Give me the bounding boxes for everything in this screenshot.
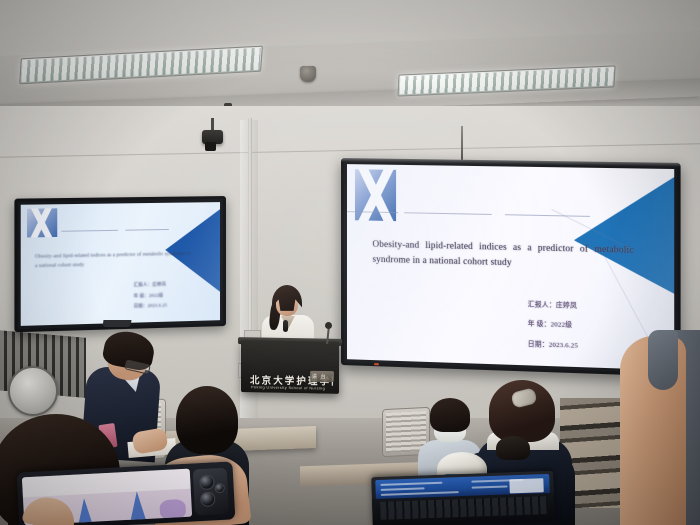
power-led-icon: [374, 363, 379, 365]
laptop-text-line: [381, 491, 459, 496]
handheld-microphone-icon: [283, 320, 288, 332]
audience-seated-head: [176, 386, 238, 454]
phone-screen-blue-shape: [77, 498, 92, 525]
secondary-slide-grade: 年 级：2022级: [134, 292, 164, 299]
podium-microphone-icon: [325, 322, 332, 329]
laptop-keyboard-base[interactable]: [372, 493, 555, 525]
laptop-text-line: [381, 487, 425, 491]
phone-screen-slide-top: [22, 469, 191, 498]
secondary-slide-date: 日期：2023.6.25: [134, 303, 168, 310]
lecture-hall-photo: Obesity-and lipid-related indices as a p…: [0, 0, 700, 525]
laptop-text-line: [380, 482, 442, 486]
audience-darksuit-head: [496, 436, 530, 460]
ceiling-speaker-icon: [300, 66, 316, 82]
slide-date-line: 日期：2023.6.25: [528, 338, 578, 350]
laptop-text-line: [472, 485, 508, 488]
secondary-slide-title: Obesity-and lipid-related indices as a p…: [35, 250, 191, 270]
presentation-slide: Obesity-and lipid-related indices as a p…: [347, 164, 674, 370]
podium-nameplate-english: Peking University School of Nursing: [251, 384, 333, 391]
podium-side-badge-text: 讲 台: [312, 373, 327, 380]
university-logo-icon: [27, 208, 58, 237]
camera-lens-icon: [199, 474, 215, 490]
university-logo-icon: [355, 169, 396, 221]
camera-flash-icon: [214, 483, 225, 494]
camera-lens-icon: [200, 491, 216, 507]
laptop-panel-block: [509, 478, 543, 493]
open-laptop[interactable]: [371, 471, 555, 525]
right-person-sleeve: [648, 330, 678, 390]
main-presentation-display[interactable]: Obesity-and lipid-related indices as a p…: [341, 158, 681, 377]
audience-masked-hair: [430, 398, 470, 432]
laptop-keys[interactable]: [380, 496, 547, 520]
phone-screen-blue-shape: [129, 491, 147, 522]
secondary-display-mount: [103, 320, 132, 327]
secondary-display-slide: Obesity-and lipid-related indices as a p…: [21, 202, 220, 326]
microphone-cable: [461, 126, 463, 164]
slide-presenter-line: 汇报人：庄婷凤: [528, 298, 577, 310]
wall-clock: [8, 366, 58, 416]
secondary-slide-presenter: 汇报人：庄婷凤: [134, 281, 167, 288]
secondary-display[interactable]: Obesity-and lipid-related indices as a p…: [14, 196, 226, 332]
phone-screen-blob: [159, 499, 186, 520]
camera-lens-icon: [205, 142, 216, 151]
slide-grade-line: 年 级：2022级: [528, 318, 573, 330]
phone-camera-module: [193, 468, 229, 516]
